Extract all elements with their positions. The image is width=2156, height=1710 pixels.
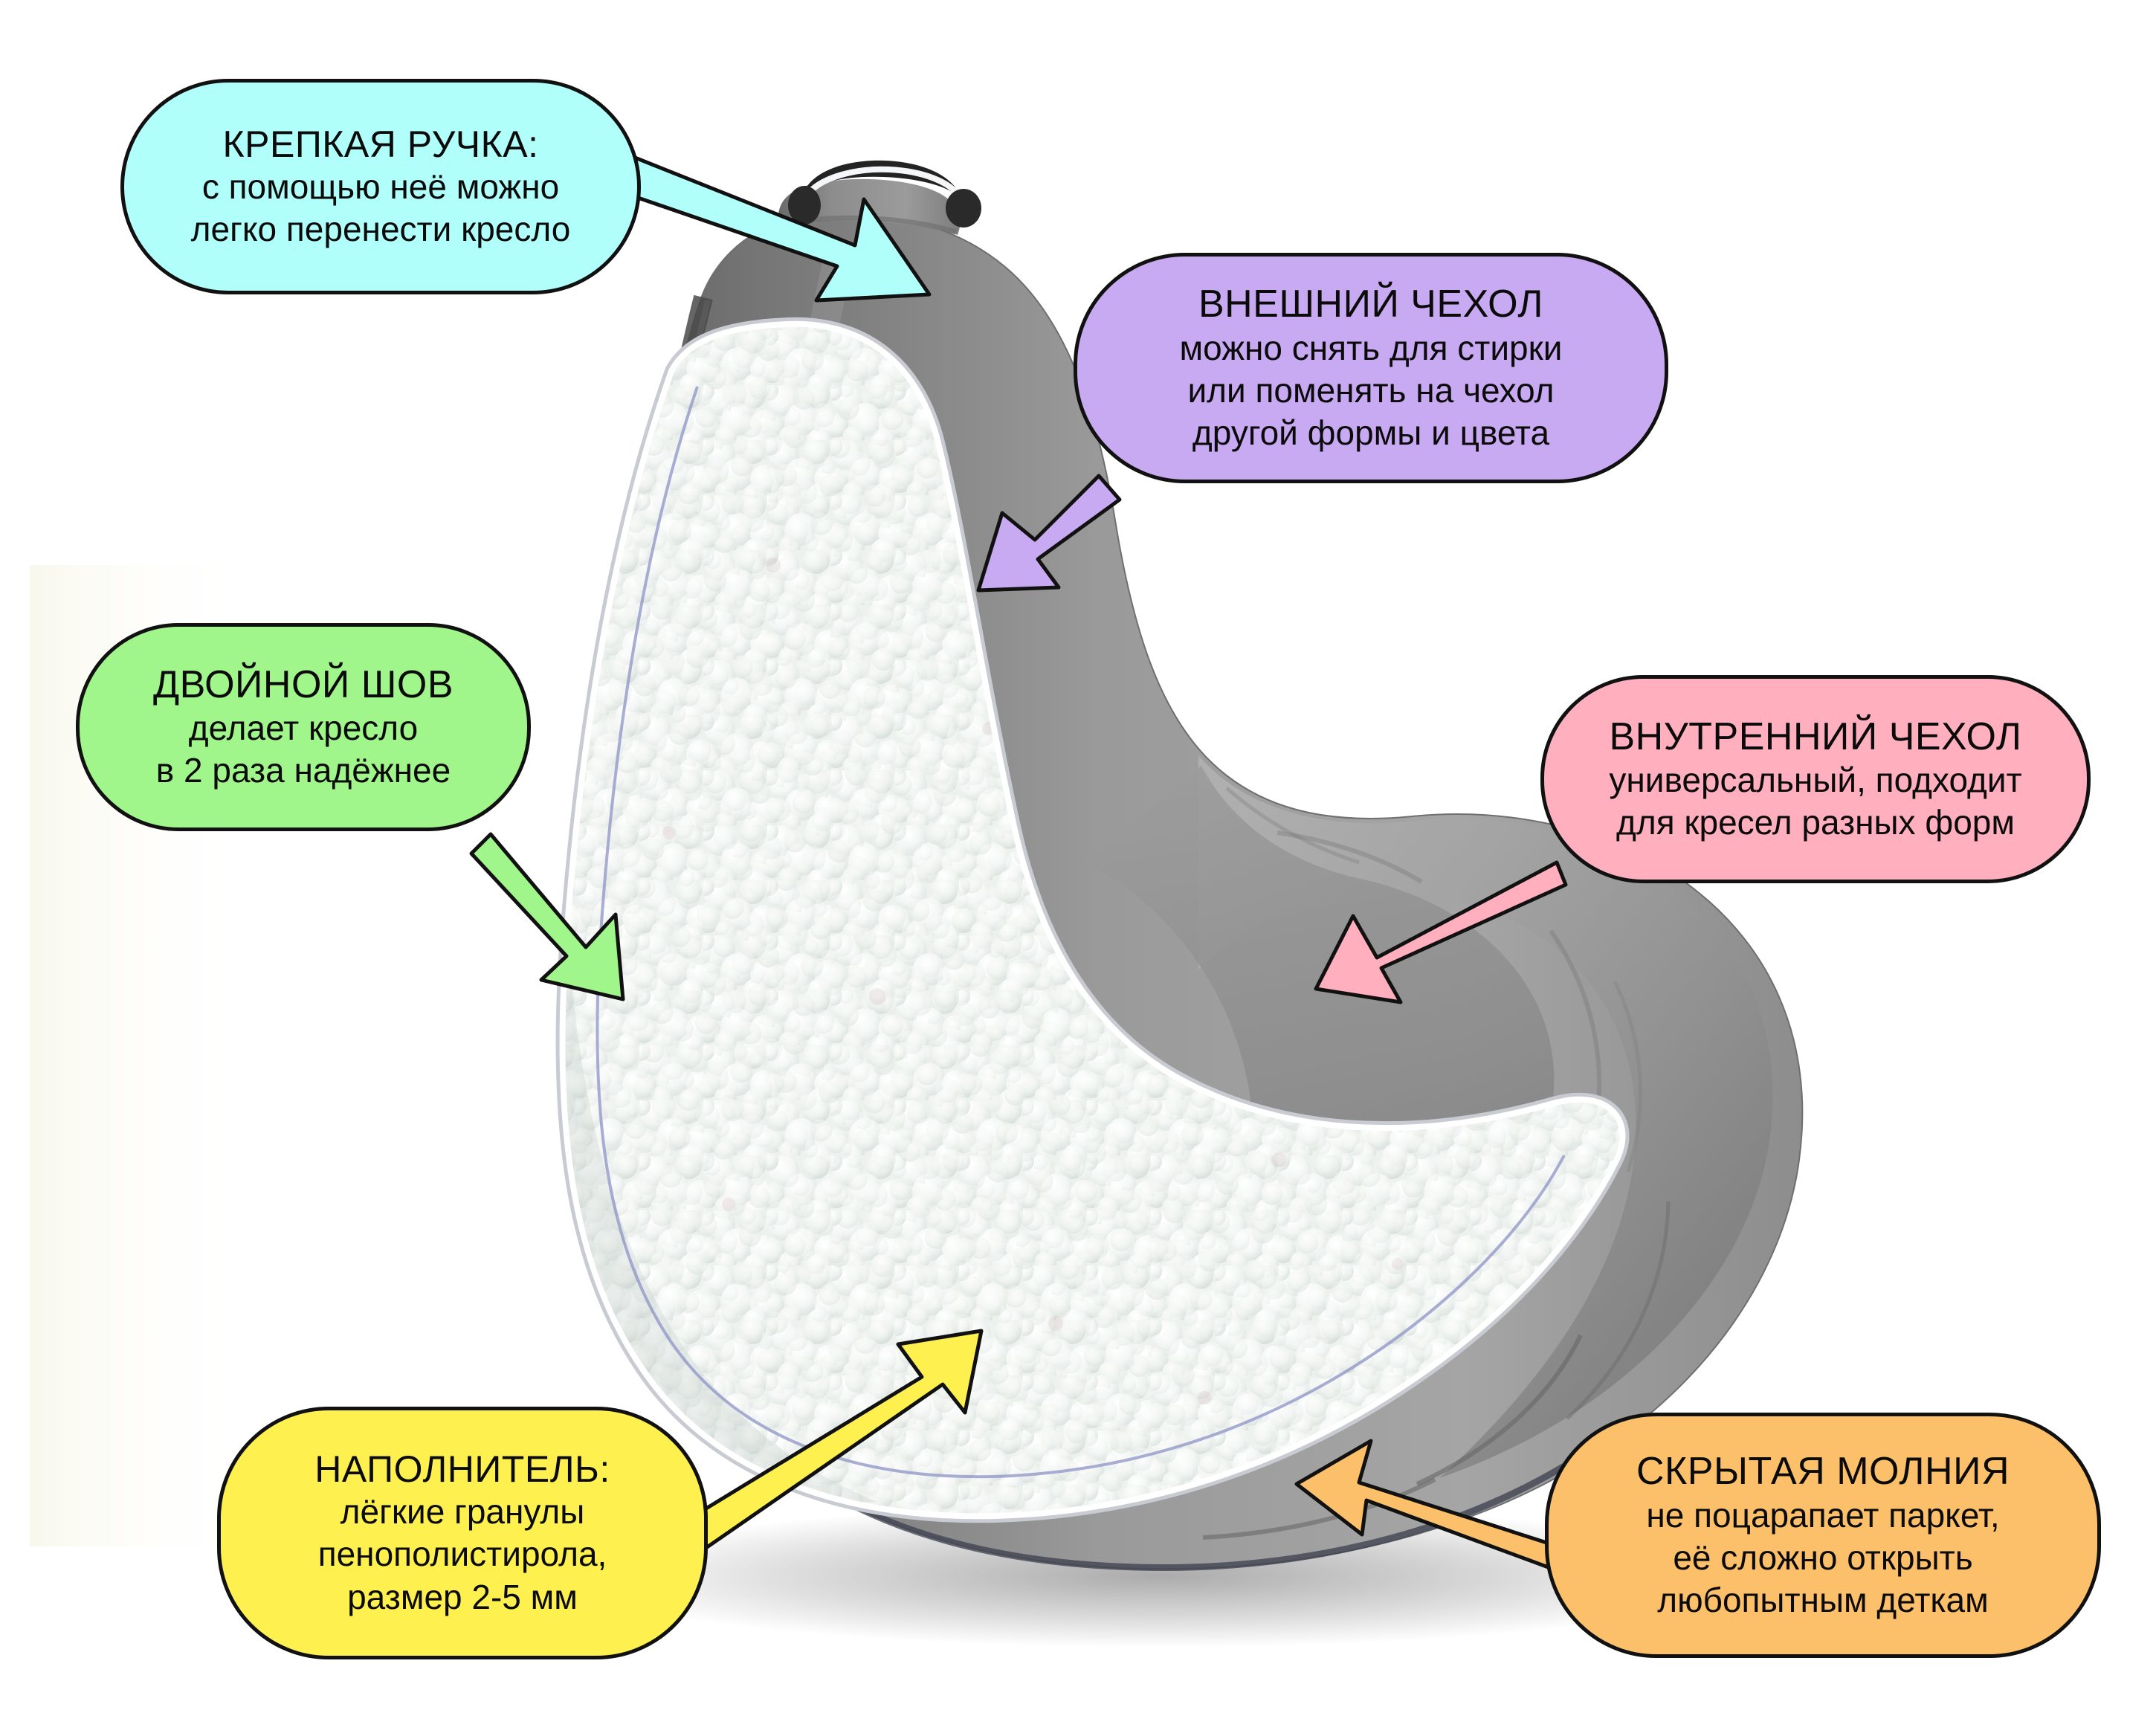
callout-filler-line-3: размер 2-5 мм [347,1576,578,1619]
arrow-zipper [1297,1441,1558,1569]
infographic-canvas: КРЕПКАЯ РУЧКА: с помощью неё можно легко… [0,0,2156,1710]
callout-filler-line-2: пенополистирола, [318,1533,607,1575]
callout-filler[interactable]: НАПОЛНИТЕЛЬ: лёгкие гранулы пенополистир… [217,1407,708,1659]
arrow-filler [678,1331,981,1554]
callout-outer-cover-line-2: или поменять на чехол [1187,370,1554,412]
callout-outer-cover-line-1: можно снять для стирки [1180,327,1563,370]
arrow-double-seam [471,834,623,999]
callout-filler-line-1: лёгкие гранулы [340,1491,585,1533]
callout-zipper-title: СКРЫТАЯ МОЛНИЯ [1636,1449,2010,1494]
callout-inner-cover-title: ВНУТРЕННИЙ ЧЕХОЛ [1610,714,2022,759]
callout-zipper-line-3: любопытным деткам [1657,1579,1989,1622]
arrow-inner-cover [1316,862,1566,1002]
callout-double-seam-title: ДВОЙНОЙ ШОВ [153,662,454,707]
callout-handle[interactable]: КРЕПКАЯ РУЧКА: с помощью неё можно легко… [120,79,641,294]
arrow-outer-cover [978,476,1120,590]
callout-zipper-line-2: её сложно открыть [1673,1537,1972,1579]
callout-inner-cover-line-1: универсальный, подходит [1609,759,2021,801]
callout-filler-title: НАПОЛНИТЕЛЬ: [314,1448,610,1491]
callout-handle-line-1: с помощью неё можно [202,166,559,208]
callout-handle-title: КРЕПКАЯ РУЧКА: [223,123,539,166]
callout-inner-cover-line-2: для кресел разных форм [1616,801,2015,844]
callout-handle-line-2: легко перенести кресло [191,208,571,251]
callout-double-seam-line-1: делает кресло [189,707,418,749]
callout-outer-cover-line-3: другой формы и цвета [1192,412,1549,454]
callout-zipper-line-1: не поцарапает паркет, [1646,1494,1999,1537]
callout-double-seam[interactable]: ДВОЙНОЙ ШОВ делает кресло в 2 раза надёж… [76,623,531,831]
callout-outer-cover[interactable]: ВНЕШНИЙ ЧЕХОЛ можно снять для стирки или… [1074,253,1668,483]
callout-double-seam-line-2: в 2 раза надёжнее [156,749,451,792]
arrow-handle [595,149,929,300]
callout-zipper[interactable]: СКРЫТАЯ МОЛНИЯ не поцарапает паркет, её … [1545,1413,2101,1658]
callout-inner-cover[interactable]: ВНУТРЕННИЙ ЧЕХОЛ универсальный, подходит… [1540,675,2091,883]
callout-outer-cover-title: ВНЕШНИЙ ЧЕХОЛ [1198,282,1543,326]
